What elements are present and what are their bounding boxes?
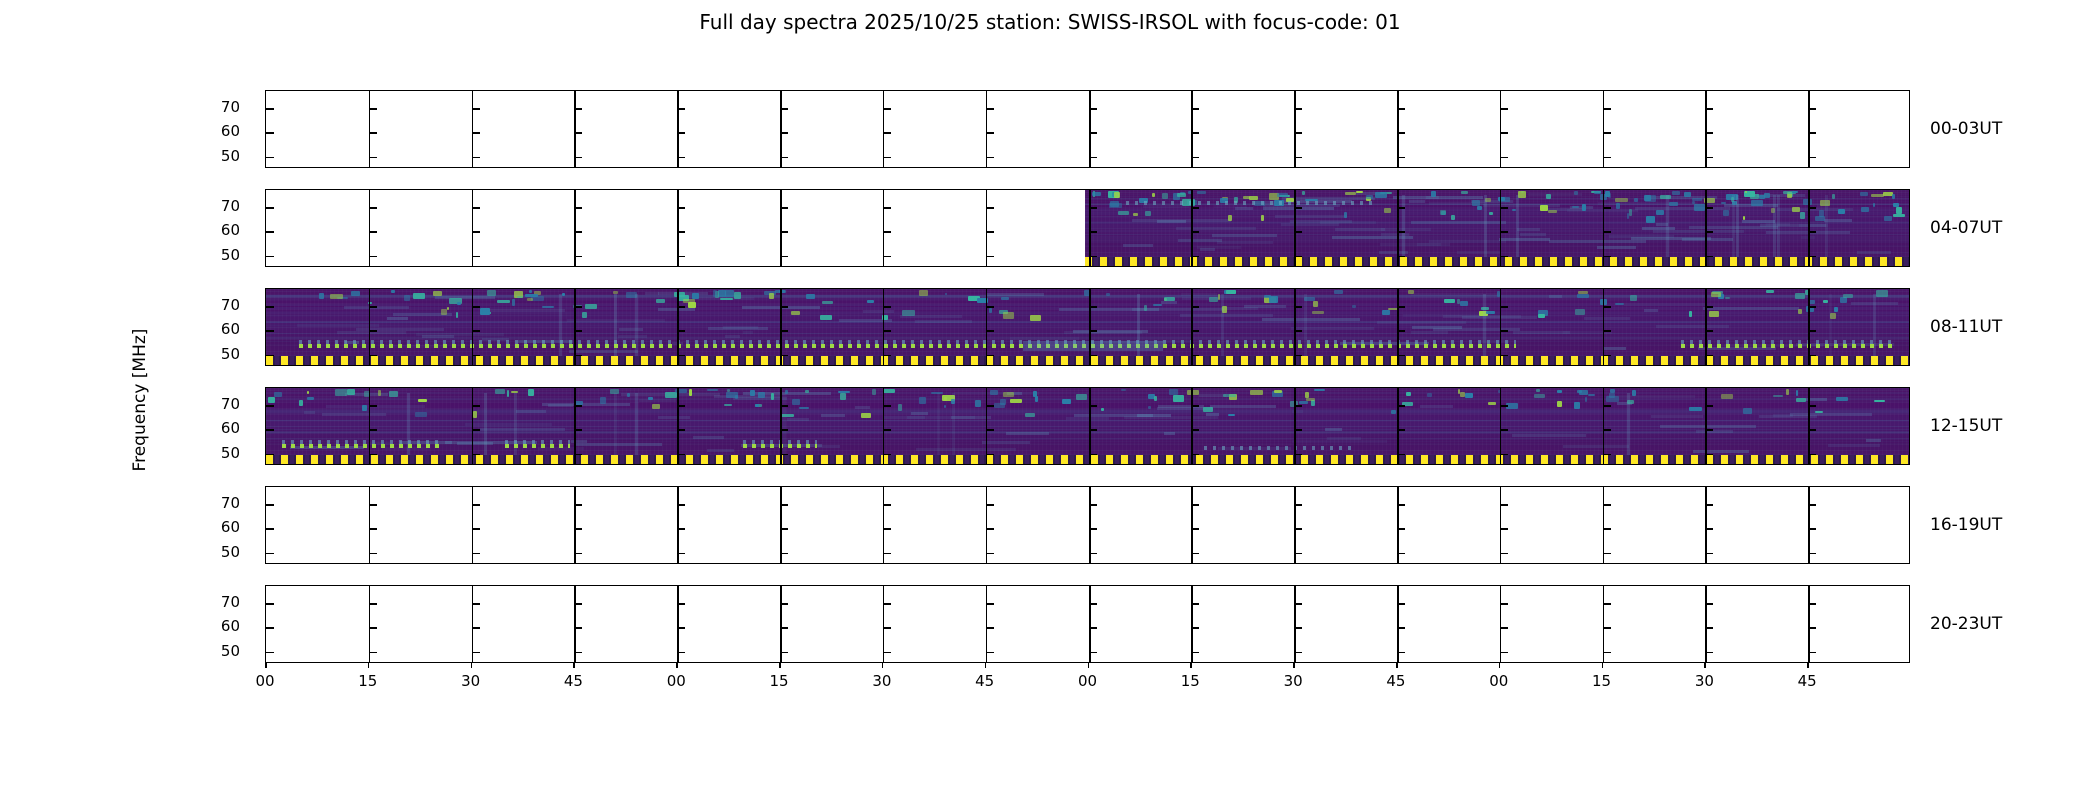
y-tick-mark [1603, 454, 1611, 456]
y-tick-mark [1500, 231, 1508, 233]
panel-separator [1191, 487, 1193, 563]
panel-separator [780, 487, 782, 563]
y-tick-mark [677, 330, 685, 332]
row-time-label: 16-19UT [1930, 515, 2002, 535]
y-tick-mark [1294, 603, 1302, 605]
frequency-band [1085, 213, 1910, 215]
y-tick-mark [1500, 528, 1508, 530]
y-tick-mark [1191, 355, 1199, 357]
bright-emission-spot [1795, 293, 1805, 298]
bright-emission-spot [898, 404, 902, 411]
panel-separator [1603, 190, 1605, 266]
y-tick-mark [883, 231, 891, 233]
bright-emission-spot [457, 302, 461, 305]
bright-emission-spot [391, 290, 396, 293]
bright-emission-spot [1305, 392, 1309, 398]
spectrogram-row-20-23ut [265, 585, 1910, 663]
signal-streak [1244, 305, 1286, 308]
panel-separator [677, 190, 679, 266]
y-tick-mark [1808, 603, 1816, 605]
signal-streak [787, 418, 810, 421]
panel-separator [472, 91, 474, 167]
panel-separator [1808, 190, 1810, 266]
y-tick-mark [369, 157, 377, 159]
bright-emission-spot [1465, 393, 1473, 398]
y-tick-mark [1397, 553, 1405, 555]
y-tick-mark [472, 207, 480, 209]
y-tick-mark [574, 231, 582, 233]
panel-separator [1089, 388, 1091, 464]
bright-emission-spot [1609, 393, 1615, 398]
bright-emission-spot [1223, 394, 1236, 397]
bright-emission-spot [1344, 212, 1347, 218]
panel-separator [986, 487, 988, 563]
panel-separator [1603, 586, 1605, 662]
y-tick-mark [1603, 157, 1611, 159]
bright-emission-spot [1460, 301, 1468, 305]
y-tick-mark [266, 306, 274, 308]
bright-emission-spot [1534, 394, 1545, 398]
signal-streak [1563, 445, 1629, 448]
panel-separator [574, 91, 576, 167]
bright-emission-spot [1743, 408, 1751, 414]
bright-emission-spot [413, 293, 425, 299]
narrowband-interference [1253, 340, 1516, 344]
signal-streak [1457, 251, 1501, 254]
x-tick-mark [265, 663, 267, 668]
y-tick-mark [986, 454, 994, 456]
row-canvas [266, 487, 1909, 563]
y-tick-mark [1500, 405, 1508, 407]
y-tick-mark [574, 429, 582, 431]
bright-emission-spot [1644, 195, 1651, 202]
panel-separator [1191, 91, 1193, 167]
vertical-interference-streak [1736, 195, 1739, 262]
bright-emission-spot [1832, 194, 1835, 199]
y-tick-mark [780, 652, 788, 654]
bright-emission-spot [1477, 206, 1482, 210]
bright-emission-spot [347, 389, 354, 395]
panel-separator [369, 388, 371, 464]
panel-separator [1089, 487, 1091, 563]
panel-separator [574, 289, 576, 365]
y-tick-mark [1603, 330, 1611, 332]
bright-emission-spot [1010, 399, 1022, 403]
bright-emission-spot [330, 294, 342, 299]
bright-emission-spot [1375, 192, 1387, 198]
signal-streak [1181, 293, 1217, 296]
x-tick-label: 00 [1489, 672, 1508, 690]
signal-streak [1214, 205, 1247, 208]
x-tick-label: 15 [358, 672, 377, 690]
bright-emission-spot [1154, 396, 1157, 401]
y-tick-mark [780, 504, 788, 506]
signal-streak [1520, 233, 1546, 236]
bright-emission-spot [1579, 390, 1587, 395]
y-axis-title: Frequency [MHz] [130, 329, 150, 472]
bright-emission-spot [495, 389, 504, 394]
y-tick-mark [1294, 132, 1302, 134]
bright-emission-spot [1030, 315, 1041, 321]
y-tick-mark [472, 627, 480, 629]
bright-emission-spot [1896, 207, 1903, 214]
y-tick-mark [780, 132, 788, 134]
bright-emission-spot [805, 390, 808, 394]
x-tick-mark [1807, 663, 1809, 668]
y-tick-mark [1603, 231, 1611, 233]
y-tick-mark [986, 207, 994, 209]
bright-emission-spot [600, 397, 606, 404]
y-tick-mark [883, 627, 891, 629]
y-tick-mark [677, 355, 685, 357]
panel-separator [1603, 289, 1605, 365]
bright-emission-spot [1488, 402, 1496, 406]
bright-emission-spot [689, 389, 692, 396]
panel-separator [1191, 586, 1193, 662]
y-tick-mark [883, 454, 891, 456]
x-tick-label: 30 [1284, 672, 1303, 690]
bright-emission-spot [1585, 397, 1588, 403]
y-tick-mark [677, 553, 685, 555]
y-tick-label: 70 [200, 494, 240, 512]
x-tick-label: 15 [770, 672, 789, 690]
panel-separator [369, 91, 371, 167]
panel-separator [986, 289, 988, 365]
panel-separator [369, 190, 371, 266]
signal-streak [883, 416, 925, 419]
bright-emission-spot [1228, 215, 1232, 220]
bright-emission-spot [433, 291, 442, 296]
x-tick-label: 30 [461, 672, 480, 690]
bright-emission-spot [1557, 401, 1562, 407]
y-tick-mark [1705, 429, 1713, 431]
y-tick-mark [1397, 355, 1405, 357]
bright-emission-spot [585, 304, 597, 309]
panel-separator [1500, 91, 1502, 167]
bright-emission-spot [1144, 305, 1147, 311]
signal-streak [1598, 202, 1697, 205]
bright-emission-spot [1003, 312, 1014, 319]
y-tick-mark [1808, 157, 1816, 159]
bright-emission-spot [1546, 194, 1551, 199]
y-tick-mark [883, 405, 891, 407]
vertical-interference-streak [937, 393, 940, 460]
y-tick-mark [1294, 207, 1302, 209]
panel-separator [1808, 586, 1810, 662]
bright-emission-spot [1588, 394, 1595, 396]
y-tick-mark [1191, 330, 1199, 332]
vertical-interference-streak [1627, 393, 1630, 460]
panel-separator [1294, 190, 1296, 266]
y-tick-mark [1089, 355, 1097, 357]
bright-emission-spot [1472, 200, 1480, 205]
vertical-interference-streak [1773, 195, 1776, 262]
narrowband-interference [282, 440, 438, 444]
bright-emission-spot [1226, 290, 1236, 294]
y-tick-mark [1603, 504, 1611, 506]
bright-emission-spot [1823, 300, 1828, 303]
vertical-interference-streak [1402, 195, 1405, 262]
y-tick-mark [1294, 231, 1302, 233]
x-tick-mark [1190, 663, 1192, 668]
y-tick-mark [883, 603, 891, 605]
y-tick-mark [369, 256, 377, 258]
y-tick-mark [986, 603, 994, 605]
panel-separator [1500, 289, 1502, 365]
y-tick-mark [1191, 603, 1199, 605]
bright-emission-spot [1615, 303, 1624, 306]
signal-streak [639, 399, 676, 402]
y-tick-mark [883, 528, 891, 530]
signal-streak [1290, 220, 1352, 223]
narrowband-interference [282, 444, 438, 448]
x-tick-label: 00 [667, 672, 686, 690]
x-tick-label: 45 [1386, 672, 1405, 690]
vertical-interference-streak [952, 393, 955, 460]
bright-emission-spot [1548, 210, 1558, 213]
y-tick-mark [1705, 132, 1713, 134]
bright-emission-spot [1408, 290, 1414, 294]
narrowband-interference [505, 440, 571, 444]
signal-streak [693, 436, 724, 439]
bright-emission-spot [1197, 191, 1206, 194]
y-tick-mark [369, 132, 377, 134]
y-tick-mark [266, 256, 274, 258]
y-tick-mark [1089, 256, 1097, 258]
y-tick-mark [1808, 429, 1816, 431]
bright-emission-spot [1384, 208, 1391, 214]
y-tick-mark [883, 355, 891, 357]
bright-emission-spot [542, 306, 554, 308]
y-tick-mark [574, 207, 582, 209]
bright-emission-spot [1629, 209, 1632, 216]
y-tick-mark [1294, 405, 1302, 407]
bright-emission-spot [1406, 392, 1412, 397]
y-tick-mark [780, 157, 788, 159]
bright-emission-spot [1721, 202, 1727, 204]
panel-separator [1500, 190, 1502, 266]
bright-emission-spot [1798, 309, 1803, 314]
calibration-strip [1085, 257, 1910, 266]
narrowband-interference [505, 444, 571, 448]
y-tick-mark [1603, 306, 1611, 308]
bright-emission-spot [1689, 311, 1692, 317]
y-tick-mark [1808, 405, 1816, 407]
bright-emission-spot [527, 298, 532, 301]
signal-streak [855, 406, 870, 409]
y-tick-mark [1603, 256, 1611, 258]
y-tick-mark [266, 157, 274, 159]
y-tick-mark [574, 627, 582, 629]
y-tick-mark [266, 603, 274, 605]
bright-emission-spot [1834, 307, 1838, 312]
bright-emission-spot [990, 390, 999, 395]
y-tick-mark [780, 306, 788, 308]
y-tick-mark [1603, 553, 1611, 555]
bright-emission-spot [1277, 193, 1289, 198]
y-tick-mark [1500, 157, 1508, 159]
bright-emission-spot [1574, 191, 1578, 194]
bright-emission-spot [1177, 193, 1185, 197]
bright-emission-spot [1843, 294, 1853, 298]
bright-emission-spot [307, 397, 314, 400]
bright-emission-spot [840, 393, 846, 399]
y-tick-mark [1397, 603, 1405, 605]
y-tick-mark [1191, 256, 1199, 258]
bright-emission-spot [989, 308, 991, 313]
y-tick-mark [1603, 405, 1611, 407]
bright-emission-spot [1575, 309, 1585, 315]
bright-emission-spot [1751, 200, 1763, 206]
panel-separator [883, 190, 885, 266]
y-tick-mark [574, 504, 582, 506]
y-tick-mark [1705, 207, 1713, 209]
signal-streak [1411, 221, 1506, 224]
vertical-interference-streak [1777, 195, 1780, 262]
panel-separator [677, 487, 679, 563]
y-tick-mark [266, 528, 274, 530]
y-tick-mark [369, 553, 377, 555]
bright-emission-spot [529, 290, 532, 293]
y-tick-mark [780, 405, 788, 407]
vertical-interference-streak [1666, 195, 1669, 262]
y-tick-mark [1603, 627, 1611, 629]
bright-emission-spot [1164, 297, 1175, 301]
signal-streak [1217, 241, 1273, 244]
bright-emission-spot [945, 293, 947, 295]
bright-emission-spot [1249, 196, 1258, 200]
bright-emission-spot [1352, 305, 1355, 307]
bright-emission-spot [1187, 390, 1199, 394]
y-tick-mark [472, 553, 480, 555]
bright-emission-spot [1743, 216, 1745, 219]
bright-emission-spot [1092, 192, 1101, 196]
bright-emission-spot [883, 389, 895, 393]
y-tick-mark [472, 652, 480, 654]
bright-emission-spot [1109, 203, 1121, 208]
bright-emission-spot [1836, 397, 1848, 401]
row-time-label: 00-03UT [1930, 119, 2002, 139]
y-tick-label: 60 [200, 221, 240, 239]
bright-emission-spot [1440, 210, 1446, 215]
signal-streak [1393, 196, 1483, 199]
bright-emission-spot [1694, 204, 1705, 211]
y-tick-mark [986, 355, 994, 357]
signal-streak [1703, 307, 1799, 310]
y-tick-mark [1294, 652, 1302, 654]
panel-separator [883, 289, 885, 365]
panel-separator [1191, 289, 1193, 365]
y-tick-mark [369, 627, 377, 629]
y-tick-mark [1500, 330, 1508, 332]
vertical-interference-streak [783, 393, 786, 460]
y-tick-mark [1294, 429, 1302, 431]
signal-streak [1212, 234, 1277, 237]
x-tick-mark [368, 663, 370, 668]
x-tick-label: 30 [1695, 672, 1714, 690]
y-tick-mark [1500, 306, 1508, 308]
y-tick-mark [1397, 207, 1405, 209]
signal-streak [1327, 437, 1361, 440]
bright-emission-spot [582, 312, 587, 318]
y-tick-mark [369, 603, 377, 605]
bright-emission-spot [1145, 211, 1151, 217]
panel-separator [677, 91, 679, 167]
panel-separator [1705, 388, 1707, 464]
y-tick-mark [986, 256, 994, 258]
y-tick-mark [574, 405, 582, 407]
panel-separator [1397, 388, 1399, 464]
narrowband-interference [1681, 344, 1895, 348]
bright-emission-spot [1538, 314, 1545, 317]
y-tick-label: 60 [200, 320, 240, 338]
bright-emission-spot [1486, 311, 1496, 314]
row-time-label: 08-11UT [1930, 317, 2002, 337]
y-tick-mark [1500, 355, 1508, 357]
bright-emission-spot [1458, 389, 1461, 394]
y-tick-mark [677, 207, 685, 209]
y-tick-mark [1397, 504, 1405, 506]
narrowband-interference [1681, 340, 1895, 344]
signal-streak [465, 423, 552, 426]
y-tick-mark [780, 553, 788, 555]
bright-emission-spot [362, 405, 367, 411]
y-tick-mark [266, 429, 274, 431]
bright-emission-spot [1461, 191, 1467, 194]
y-tick-mark [1397, 157, 1405, 159]
spectrogram-row-00-03ut [265, 90, 1910, 168]
y-tick-mark [1397, 528, 1405, 530]
y-tick-mark [1603, 429, 1611, 431]
x-tick-mark [1088, 663, 1090, 668]
bright-emission-spot [1003, 392, 1014, 397]
narrowband-interference [1126, 201, 1374, 205]
y-tick-mark [1500, 108, 1508, 110]
bright-emission-spot [1630, 295, 1637, 301]
bright-emission-spot [1382, 310, 1390, 314]
signal-streak [1635, 207, 1730, 210]
signal-streak [1631, 237, 1710, 240]
bright-emission-spot [497, 300, 510, 303]
y-tick-mark [986, 330, 994, 332]
y-tick-mark [1397, 454, 1405, 456]
bright-emission-spot [1366, 195, 1373, 200]
bright-emission-spot [1274, 390, 1282, 393]
x-tick-mark [1704, 663, 1706, 668]
x-tick-label: 00 [255, 672, 274, 690]
y-tick-mark [1191, 528, 1199, 530]
y-tick-mark [1089, 429, 1097, 431]
y-tick-mark [1089, 504, 1097, 506]
y-tick-mark [266, 108, 274, 110]
signal-streak [1660, 425, 1756, 428]
y-tick-mark [1705, 231, 1713, 233]
bright-emission-spot [1152, 193, 1155, 197]
signal-streak [1584, 317, 1630, 320]
y-tick-mark [266, 405, 274, 407]
y-tick-mark [780, 355, 788, 357]
signal-streak [725, 335, 740, 338]
y-tick-mark [883, 207, 891, 209]
bright-emission-spot [1536, 389, 1540, 393]
bright-emission-spot [1646, 216, 1655, 223]
y-tick-label: 60 [200, 617, 240, 635]
y-tick-mark [677, 108, 685, 110]
panel-separator [369, 289, 371, 365]
bright-emission-spot [299, 400, 303, 406]
panel-separator [883, 388, 885, 464]
signal-streak [707, 449, 734, 452]
